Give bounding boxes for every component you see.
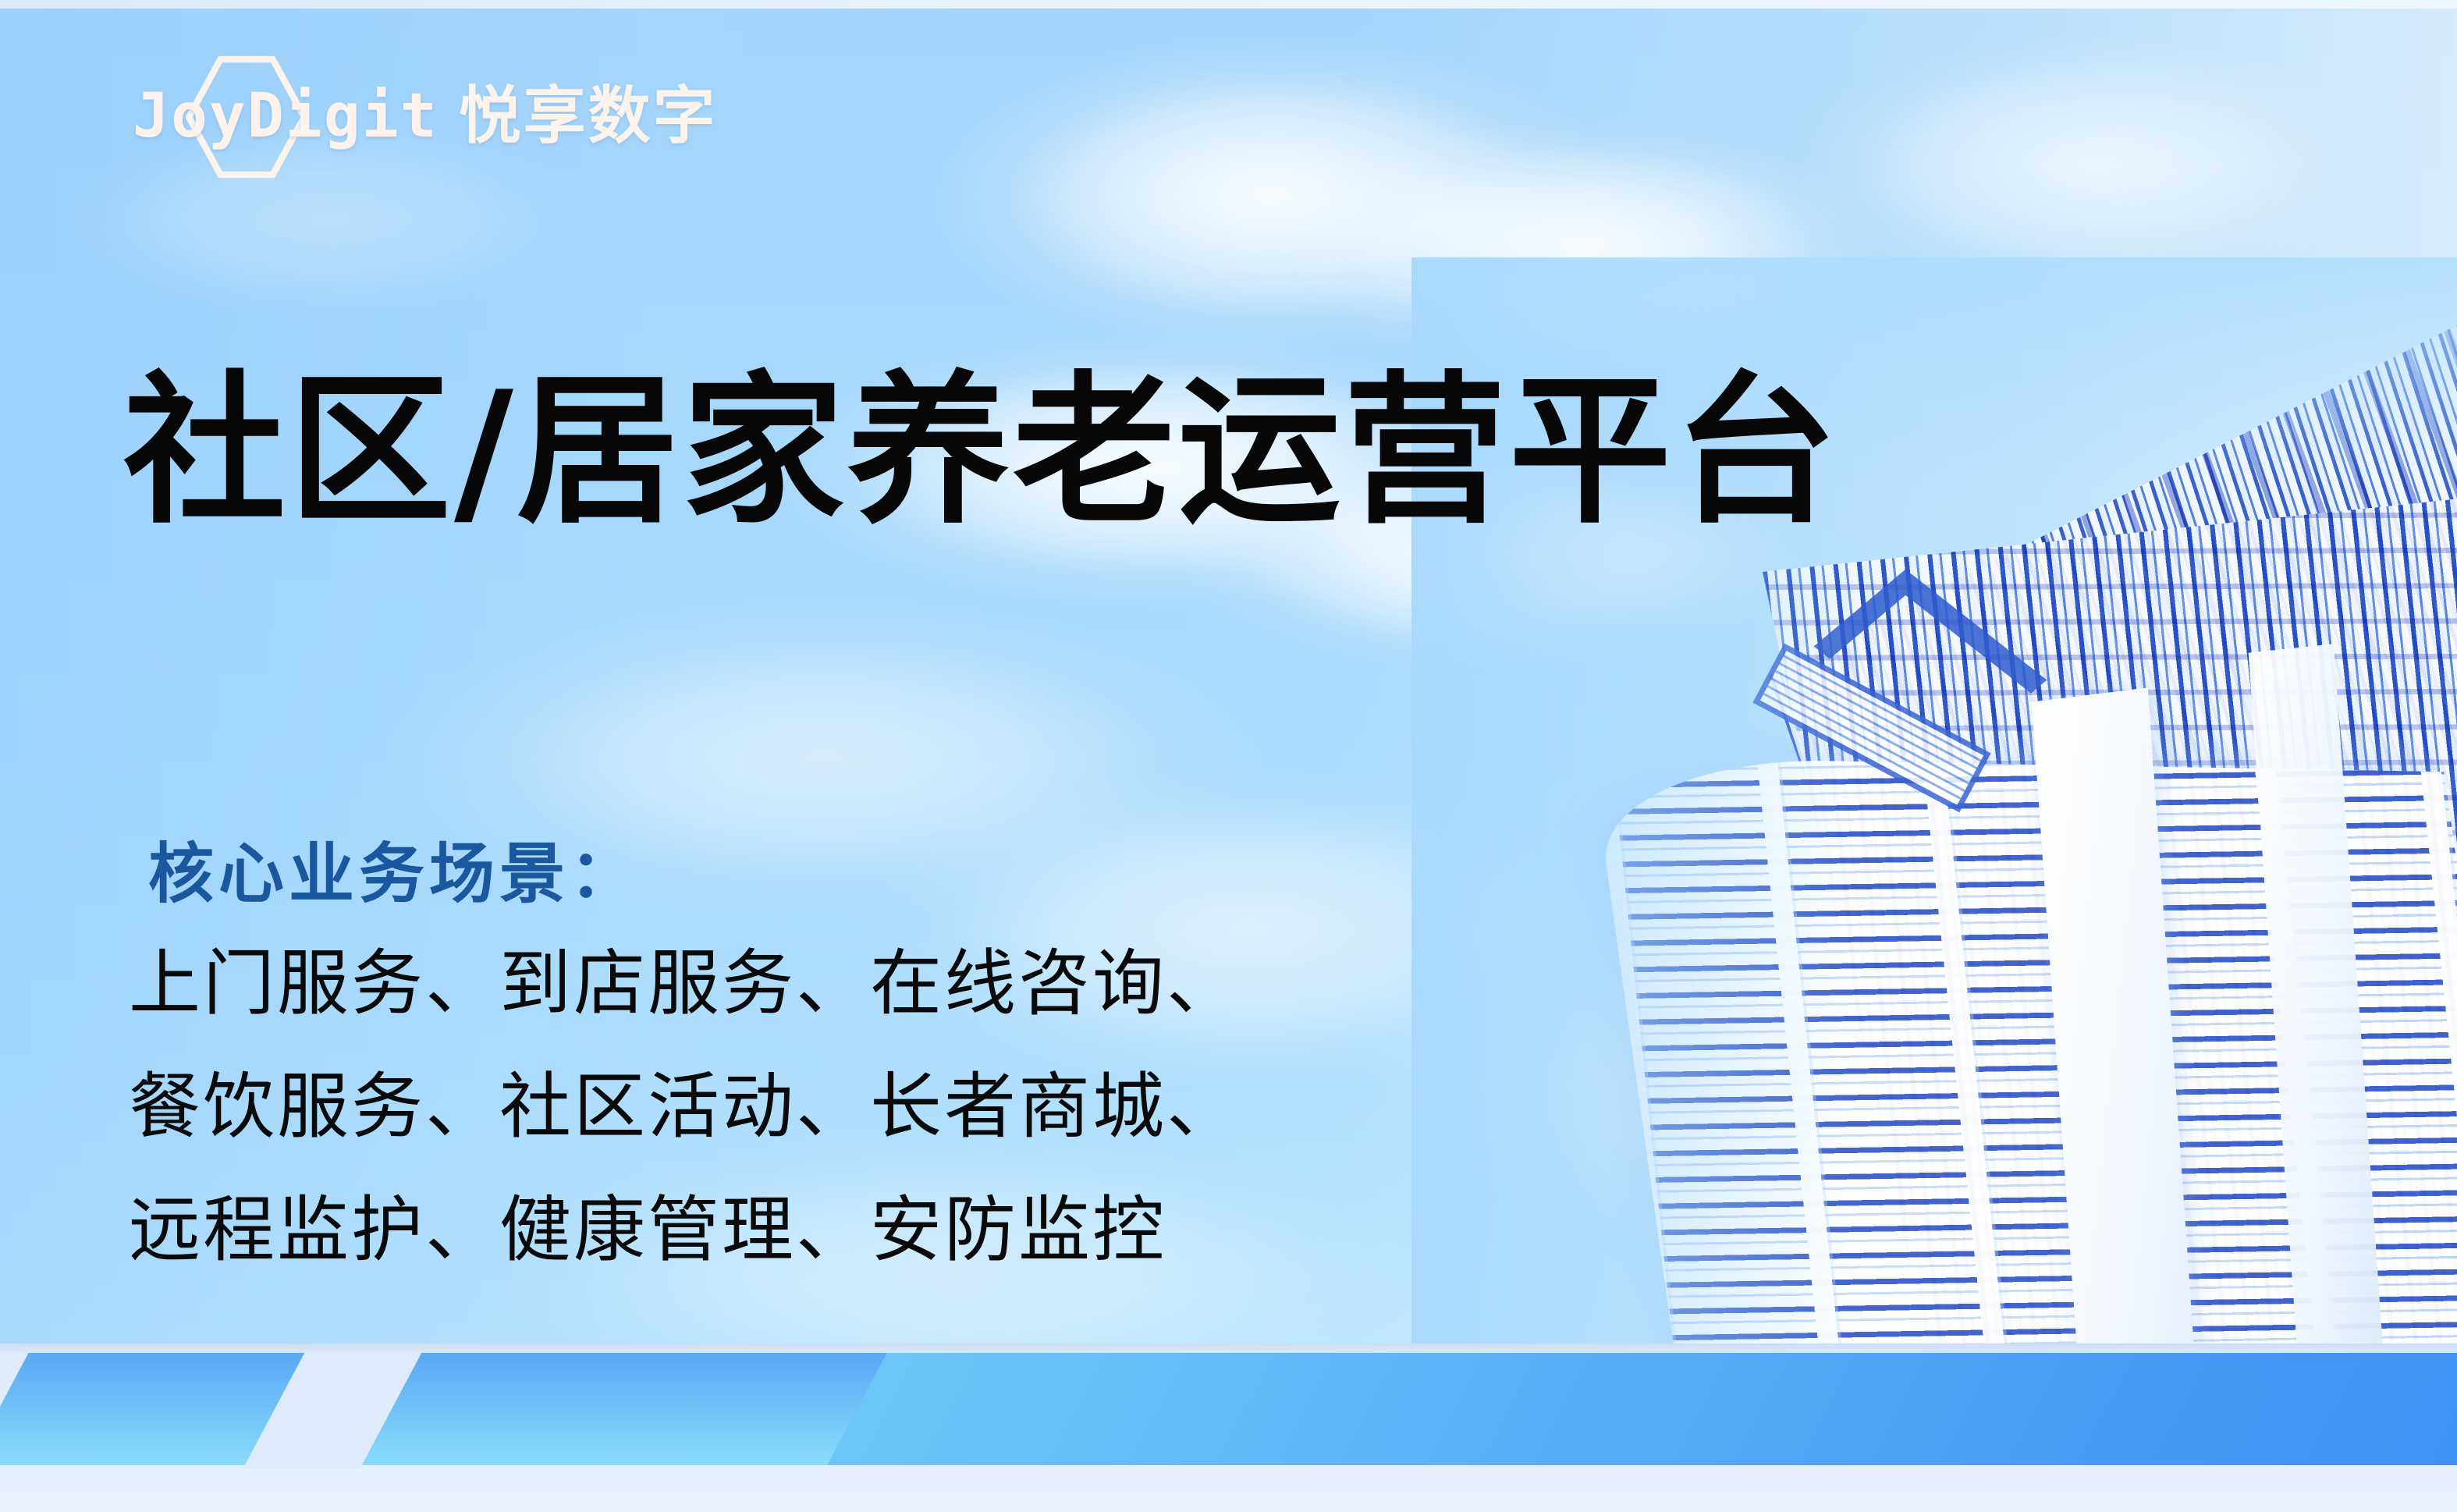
section-subheading: 核心业务场景： <box>148 835 640 914</box>
band-shadow-decor <box>0 1343 2457 1354</box>
scenario-line: 餐饮服务、社区活动、长者商城、 <box>129 1045 1241 1169</box>
page-title: 社区/居家养老运营平台 <box>123 357 1840 548</box>
logo-chinese-text: 悦享数字 <box>459 85 718 147</box>
slide-canvas: JoyDigit 悦享数字 社区/居家养老运营平台 核心业务场景： 上门服务、到… <box>0 0 2457 1512</box>
brand-logo: JoyDigit 悦享数字 <box>133 69 718 164</box>
scenario-line: 远程监护、健康管理、安防监控 <box>129 1169 1241 1292</box>
sky-wash-right <box>1326 0 2457 1512</box>
scenario-list: 上门服务、到店服务、在线咨询、 餐饮服务、社区活动、长者商城、 远程监护、健康管… <box>129 922 1241 1293</box>
bottom-decor-band <box>0 1343 2457 1512</box>
scenario-line: 上门服务、到店服务、在线咨询、 <box>129 922 1241 1045</box>
band-back-decor <box>0 1353 887 1465</box>
logo-latin-text: JoyDigit <box>133 86 438 147</box>
top-strip-decor <box>0 0 2457 9</box>
